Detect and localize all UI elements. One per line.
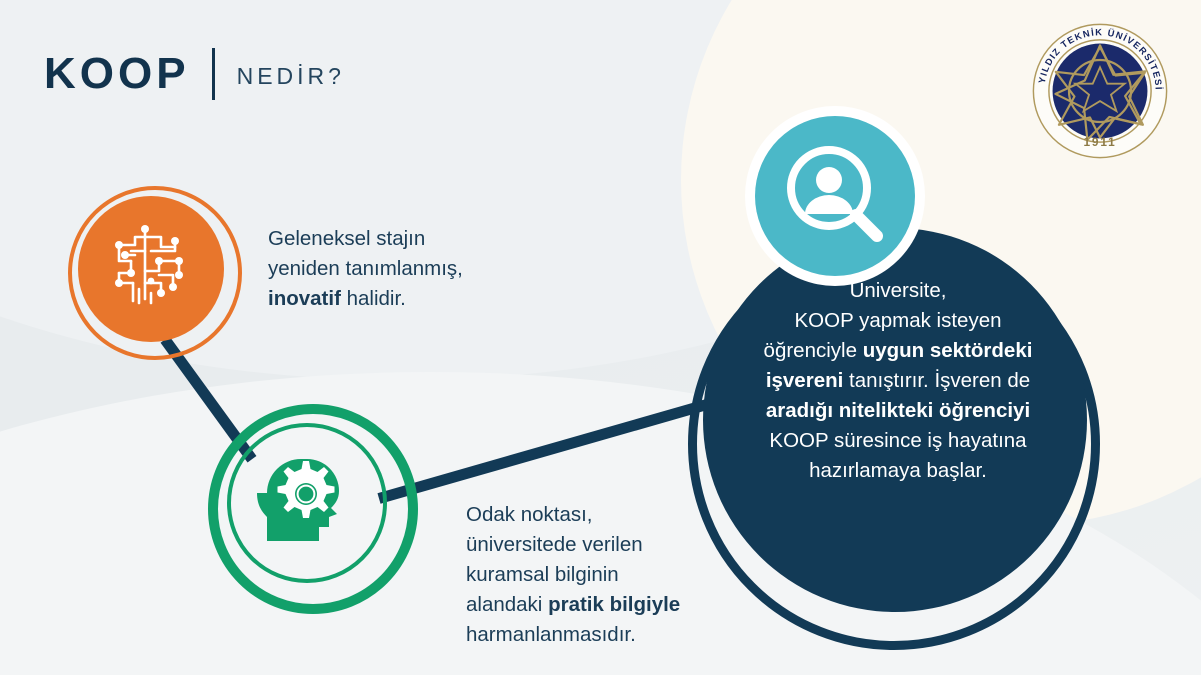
node-innovation[interactable] xyxy=(78,196,224,342)
block2-line-3: kuramsal bilginin xyxy=(466,563,619,586)
yildiz-teknik-universitesi-logo: YILDIZ TEKNİK ÜNİVERSİTESİ 1911 xyxy=(1027,18,1173,164)
main-line-6: hazırlamaya başlar. xyxy=(809,459,987,482)
block2-bold: pratik bilgiyle xyxy=(548,593,680,616)
block1-line-1: Geleneksel stajın xyxy=(268,227,425,250)
block1-line-3-tail: halidir. xyxy=(341,287,406,310)
circuit-brain-icon xyxy=(99,215,203,324)
block2-line-1: Odak noktası, xyxy=(466,503,592,526)
main-line-1: Üniversite, xyxy=(850,279,947,302)
head-gear-icon xyxy=(247,441,359,558)
logo-year: 1911 xyxy=(1083,135,1116,149)
main-bold-2: işvereni xyxy=(766,369,844,392)
description-block-knowledge: Odak noktası, üniversitede verilen kuram… xyxy=(466,500,736,650)
page-title: KOOP xyxy=(44,52,190,96)
page-header: KOOP NEDİR? xyxy=(44,48,345,100)
main-line-5: KOOP süresince iş hayatına xyxy=(769,429,1026,452)
main-bold-1: uygun sektördeki xyxy=(863,339,1033,362)
main-description-text: Üniversite, KOOP yapmak isteyen öğrenciy… xyxy=(723,276,1073,486)
node-talent-search[interactable] xyxy=(755,116,915,276)
main-bold-3: aradığı nitelikteki öğrenciyi xyxy=(766,399,1030,422)
magnifier-person-icon xyxy=(777,136,893,257)
block2-line-2: üniversitede verilen xyxy=(466,533,643,556)
main-line-4: tanıştırır. İşveren de xyxy=(843,369,1030,392)
header-divider xyxy=(212,48,215,100)
block1-bold: inovatif xyxy=(268,287,341,310)
main-line-3-head: öğrenciyle xyxy=(764,339,863,362)
block1-line-2: yeniden tanımlanmış, xyxy=(268,257,463,280)
main-line-2: KOOP yapmak isteyen xyxy=(795,309,1002,332)
block2-line-4-head: alandaki xyxy=(466,593,548,616)
block2-line-5: harmanlanmasıdır. xyxy=(466,623,636,646)
infographic-canvas: KOOP NEDİR? YILDIZ TEKNİK ÜNİVERSİTESİ 1… xyxy=(0,0,1201,675)
page-subtitle: NEDİR? xyxy=(237,61,345,88)
node-knowledge[interactable] xyxy=(236,432,370,566)
description-block-innovation: Geleneksel stajın yeniden tanımlanmış, i… xyxy=(268,224,508,314)
